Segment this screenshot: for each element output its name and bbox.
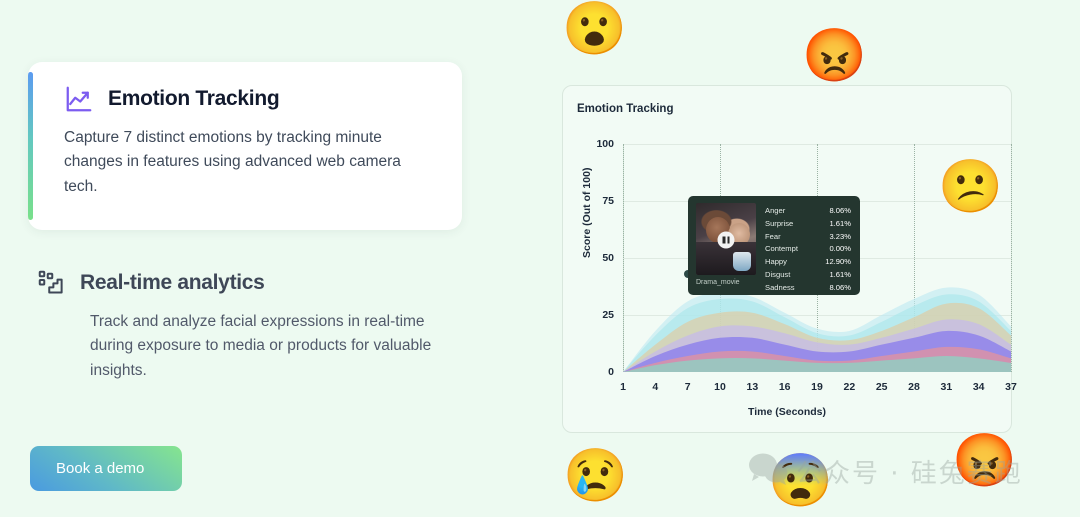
emotion-row: Fear3.23% [765, 231, 851, 244]
x-tick-label: 25 [876, 381, 888, 393]
feature-description: Track and analyze facial expressions in … [90, 310, 442, 383]
emotion-name: Fear [765, 231, 781, 244]
emotion-name: Sadness [765, 282, 795, 295]
emotion-value: 8.06% [829, 205, 851, 218]
watermark-text: 公众号 · 硅兔赛跑 [796, 453, 1023, 490]
emotion-name: Anger [765, 205, 785, 218]
gridline-v [1011, 144, 1012, 372]
x-tick-label: 13 [746, 381, 758, 393]
video-caption: Drama_movie [696, 279, 756, 286]
x-tick-label: 28 [908, 381, 920, 393]
emotion-score-list: Anger8.06%Surprise1.61%Fear3.23%Contempt… [765, 203, 851, 289]
features-column: Emotion Tracking Capture 7 distinct emot… [0, 0, 500, 517]
emotion-row: Anger8.06% [765, 205, 851, 218]
surprised-face-emoji: 😮 [562, 3, 627, 55]
x-tick-label: 10 [714, 381, 726, 393]
feature-header: Real-time analytics [28, 268, 468, 298]
y-tick-label: 75 [602, 195, 614, 207]
emotion-name: Surprise [765, 218, 793, 231]
emotion-value: 1.61% [829, 269, 851, 282]
emotion-tooltip: Drama_movie Anger8.06%Surprise1.61%Fear3… [688, 196, 860, 295]
pause-icon[interactable] [718, 232, 735, 249]
crying-face-emoji: 😢 [563, 450, 628, 502]
card-accent-bar [28, 72, 33, 220]
feature-title: Real-time analytics [80, 271, 265, 295]
x-tick-label: 19 [811, 381, 823, 393]
book-a-demo-button[interactable]: Book a demo [30, 446, 182, 491]
emotion-value: 1.61% [829, 218, 851, 231]
emotion-name: Contempt [765, 243, 798, 256]
emotion-value: 8.06% [829, 282, 851, 295]
emotion-value: 3.23% [829, 231, 851, 244]
confused-face-emoji: 😕 [938, 161, 1003, 213]
x-tick-label: 31 [940, 381, 952, 393]
emotion-name: Happy [765, 256, 787, 269]
emotion-value: 0.00% [829, 243, 851, 256]
emotion-value: 12.90% [825, 256, 851, 269]
x-tick-label: 4 [652, 381, 658, 393]
trending-up-chart-icon [64, 84, 94, 114]
emotion-tracking-landing-section: Emotion Tracking Capture 7 distinct emot… [0, 0, 1080, 517]
chart-title: Emotion Tracking [577, 103, 674, 115]
feature-block-realtime-analytics[interactable]: Real-time analytics Track and analyze fa… [28, 268, 468, 383]
feature-card-emotion-tracking[interactable]: Emotion Tracking Capture 7 distinct emot… [28, 62, 462, 230]
angry-face-emoji: 😡 [802, 30, 867, 82]
x-tick-label: 1 [620, 381, 626, 393]
x-axis-label: Time (Seconds) [563, 406, 1011, 418]
emotion-row: Sadness8.06% [765, 282, 851, 295]
feature-title: Emotion Tracking [108, 87, 279, 111]
x-tick-label: 37 [1005, 381, 1017, 393]
y-axis-label: Score (Out of 100) [581, 168, 593, 258]
x-tick-label: 16 [779, 381, 791, 393]
x-tick-label: 7 [685, 381, 691, 393]
thumbnail-cup [733, 252, 751, 271]
video-thumbnail [696, 203, 756, 275]
card-header: Emotion Tracking [64, 84, 436, 114]
feature-description: Capture 7 distinct emotions by tracking … [64, 126, 414, 199]
y-tick-label: 50 [602, 252, 614, 264]
emotion-row: Happy12.90% [765, 256, 851, 269]
x-tick-label: 34 [973, 381, 985, 393]
wechat-logo [748, 452, 788, 491]
emotion-row: Contempt0.00% [765, 243, 851, 256]
watermark: 公众号 · 硅兔赛跑 [748, 452, 1023, 491]
analytics-steps-icon [36, 268, 66, 298]
emotion-name: Disgust [765, 269, 790, 282]
emotion-row: Surprise1.61% [765, 218, 851, 231]
emotion-row: Disgust1.61% [765, 269, 851, 282]
y-tick-label: 100 [596, 138, 614, 150]
video-preview[interactable]: Drama_movie [696, 203, 756, 289]
x-tick-label: 22 [843, 381, 855, 393]
y-tick-label: 25 [602, 309, 614, 321]
y-tick-label: 0 [608, 366, 614, 378]
